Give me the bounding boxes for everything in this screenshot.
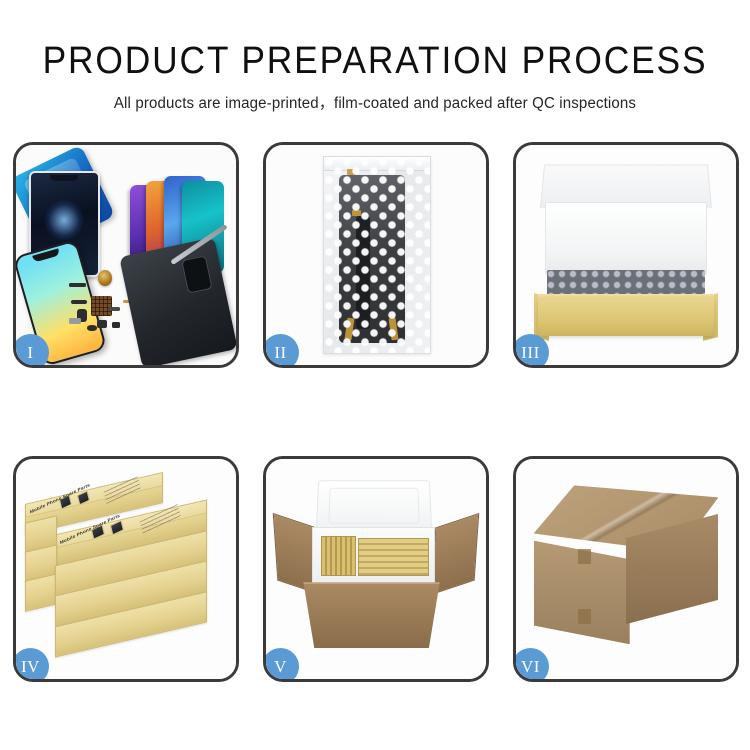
step-image-3: III [516,145,736,365]
step-panel-1: I [13,142,239,368]
speaker-module-icon [98,270,113,286]
step-panel-2: II [263,142,489,368]
step-panel-3: III [513,142,739,368]
step-badge-5: V [266,648,299,679]
page-title: PRODUCT PREPARATION PROCESS [26,40,724,82]
step-image-1: I [16,145,236,365]
flex-ribbon-icon [71,300,87,305]
sensor-icon [108,307,120,311]
process-steps-grid: I II [13,142,739,682]
box-print-textlines [103,476,141,506]
step-panel-4: Mobile Phone Spare Parts Mobile Phone Sp… [13,456,239,682]
step-image-2: II [266,145,486,365]
screen-notch-icon [50,175,78,181]
bubble-texture [324,157,430,353]
foam-box-lid-icon [315,480,432,531]
carton-body-icon [303,582,439,648]
step-badge-2: II [266,334,299,365]
yellow-boxes-horizontal-icon [358,538,428,575]
foam-sheet-icon [545,202,708,275]
step-badge-6: VI [516,648,549,679]
shipping-carton-icon [534,485,719,652]
retail-box-rear-4 [25,573,57,611]
box-face [26,474,162,518]
step-image-4: Mobile Phone Spare Parts Mobile Phone Sp… [16,459,236,679]
box-print-textlines [140,504,181,536]
step-panel-6: VI [513,456,739,682]
metal-bracket-icon [69,318,81,324]
kraft-tray-icon [538,299,714,336]
yellow-boxes-vertical-icon [321,536,356,576]
ic-chip-icon [112,322,120,328]
step-panel-5: V [263,456,489,682]
page-subtitle: All products are image-printed，film-coat… [11,91,739,113]
camera-module-icon [97,320,108,328]
header: PRODUCT PREPARATION PROCESS All products… [0,40,750,113]
step-image-5: V [266,459,486,679]
carton-tape-upper-icon [578,549,591,564]
box-stack-group: Mobile Phone Spare Parts Mobile Phone Sp… [25,481,227,661]
carton-tape-lower-icon [578,609,591,624]
vibrator-icon [87,325,96,331]
step-image-6: VI [516,459,736,679]
product-preparation-infographic: PRODUCT PREPARATION PROCESS All products… [0,0,750,750]
bubble-wrap-bag-icon [323,156,431,354]
part-strip-icon [69,283,86,287]
